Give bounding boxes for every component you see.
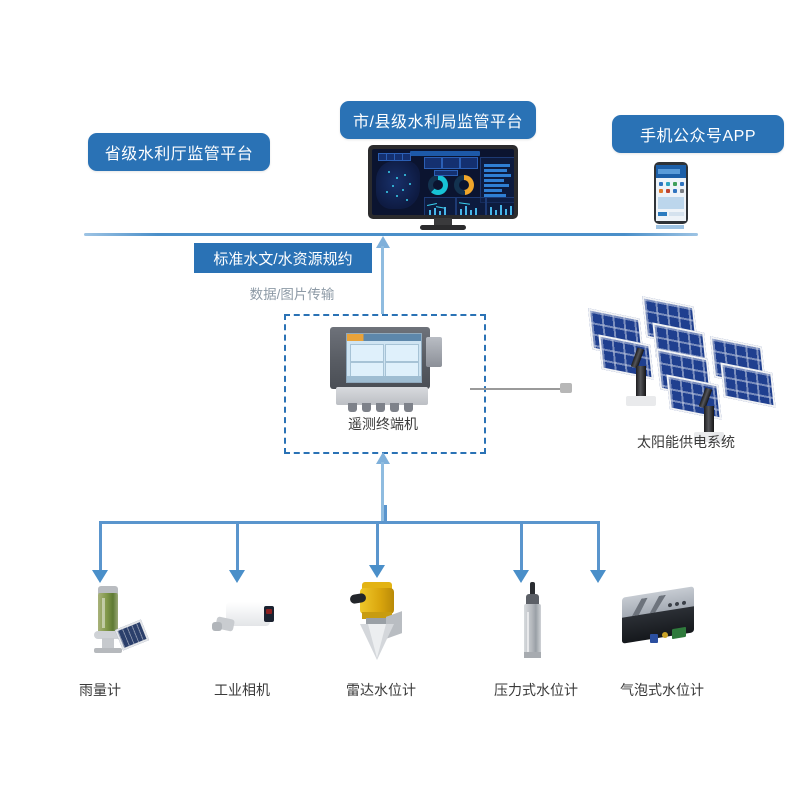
solar-power-label: 太阳能供电系统 bbox=[586, 432, 786, 452]
sensor-label-text: 气泡式水位计 bbox=[620, 682, 704, 698]
uplink-arrow-to-platforms bbox=[376, 236, 390, 318]
sensor-label-text: 雨量计 bbox=[79, 682, 121, 698]
platform-label-city-county: 市/县级水利局监管平台 bbox=[353, 108, 523, 132]
solar-power-label-text: 太阳能供电系统 bbox=[637, 434, 735, 450]
industrial-camera-icon bbox=[212, 596, 282, 646]
sensor-label-bubbler-level-gauge: 气泡式水位计 bbox=[602, 680, 722, 700]
terminal-label: 遥测终端机 bbox=[284, 414, 482, 434]
dashboard-donut-chart-1 bbox=[428, 175, 448, 195]
phone-app-screen bbox=[656, 165, 686, 221]
platform-card-mobile-app[interactable]: 手机公众号APP bbox=[612, 115, 784, 153]
network-bus-top bbox=[84, 233, 698, 236]
platform-card-provincial[interactable]: 省级水利厅监管平台 bbox=[88, 133, 270, 171]
sensor-drop-line-4 bbox=[520, 521, 523, 572]
desktop-monitor-illustration bbox=[368, 145, 518, 233]
sensor-label-rain-gauge: 雨量计 bbox=[54, 680, 146, 700]
sensor-drop-line-2 bbox=[236, 521, 239, 572]
terminal-label-text: 遥测终端机 bbox=[348, 416, 418, 432]
sensor-arrow-3 bbox=[369, 565, 385, 578]
dashboard-donut-chart-2 bbox=[454, 175, 474, 195]
monitor-stand bbox=[420, 225, 466, 230]
sensor-label-radar-level-gauge: 雷达水位计 bbox=[326, 680, 436, 700]
transfer-label-text: 数据/图片传输 bbox=[250, 283, 335, 303]
rtu-connector-panel bbox=[426, 337, 442, 367]
sensor-label-text: 压力式水位计 bbox=[494, 682, 578, 698]
sensor-label-pressure-level-gauge: 压力式水位计 bbox=[476, 680, 596, 700]
dashboard-title-bar bbox=[410, 151, 480, 156]
bubbler-level-gauge-icon bbox=[616, 588, 702, 650]
pressure-level-gauge-icon bbox=[516, 582, 552, 660]
dashboard-bar-chart-bottom bbox=[486, 197, 514, 215]
sensor-drop-line-3 bbox=[376, 521, 379, 567]
platform-card-city-county[interactable]: 市/县级水利局监管平台 bbox=[340, 101, 536, 139]
sensor-label-text: 雷达水位计 bbox=[346, 682, 416, 698]
sensor-arrow-1 bbox=[92, 570, 108, 583]
monitor-dashboard-screen bbox=[372, 149, 514, 215]
rtu-enclosure bbox=[330, 327, 430, 389]
sensor-label-text: 工业相机 bbox=[214, 682, 270, 698]
rtu-antenna-cable bbox=[470, 388, 568, 390]
sensor-bus bbox=[99, 521, 599, 524]
phone-shadow-bar bbox=[656, 225, 684, 229]
sensor-drop-line-1 bbox=[99, 521, 102, 572]
smartphone-illustration bbox=[654, 162, 688, 224]
phone-app-header bbox=[656, 165, 686, 178]
sensor-arrow-5 bbox=[590, 570, 606, 583]
transfer-label: 数据/图片传输 bbox=[232, 283, 352, 303]
bus-riser bbox=[384, 505, 387, 524]
telemetry-terminal-device-icon bbox=[326, 327, 442, 411]
platform-label-provincial: 省级水利厅监管平台 bbox=[105, 140, 254, 164]
radar-level-gauge-icon bbox=[348, 580, 412, 662]
uplink-arrow-to-terminal bbox=[376, 452, 390, 524]
sensor-arrow-2 bbox=[229, 570, 245, 583]
dashboard-line-chart-2 bbox=[456, 197, 486, 215]
protocol-label: 标准水文/水资源规约 bbox=[194, 243, 372, 273]
phone-body bbox=[654, 162, 688, 224]
dashboard-map-china bbox=[376, 161, 420, 209]
sensor-label-industrial-camera: 工业相机 bbox=[192, 680, 292, 700]
dashboard-line-chart-1 bbox=[424, 197, 456, 215]
sensor-drop-line-5 bbox=[597, 521, 600, 572]
protocol-label-text: 标准水文/水资源规约 bbox=[213, 248, 352, 269]
rtu-display bbox=[346, 333, 422, 383]
monitor-frame bbox=[368, 145, 518, 219]
rain-gauge-icon bbox=[78, 586, 148, 654]
rtu-antenna-tip bbox=[560, 383, 572, 393]
platform-label-mobile-app: 手机公众号APP bbox=[640, 122, 756, 146]
diagram-canvas: 省级水利厅监管平台 市/县级水利局监管平台 手机公众号APP bbox=[0, 0, 800, 800]
solar-power-illustration bbox=[586, 296, 786, 446]
